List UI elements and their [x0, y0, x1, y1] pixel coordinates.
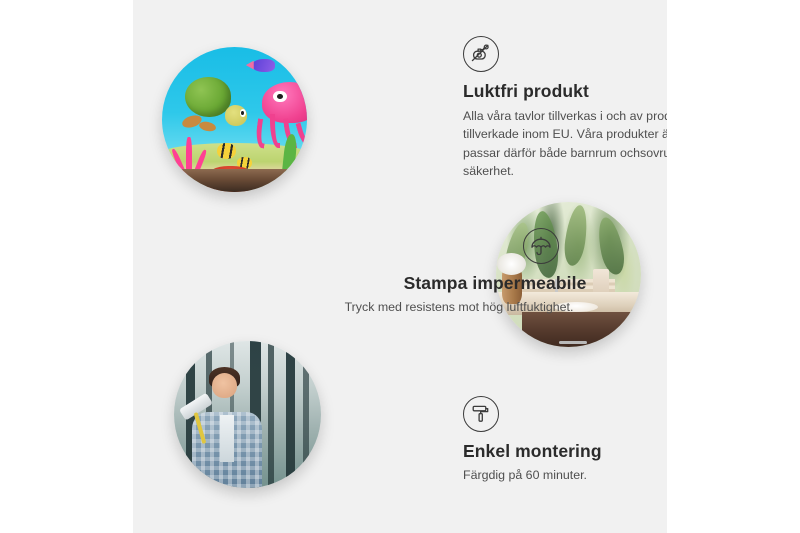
- turtle-shell: [185, 77, 232, 117]
- wooden-vanity-cabinet: [522, 312, 641, 347]
- feature-description: Färgdig på 60 minuter.: [463, 466, 667, 484]
- tree-trunk: [268, 341, 274, 488]
- drawer-handle: [559, 341, 588, 344]
- blue-fish: [252, 59, 275, 72]
- octopus-tentacle: [254, 119, 268, 149]
- woman-face: [212, 373, 237, 398]
- no-fragrance-icon: [463, 36, 499, 72]
- paint-roller-icon: [463, 396, 499, 432]
- feature-description: Alla våra tavlor tillverkas i och av pro…: [463, 107, 667, 180]
- sea-turtle: [179, 76, 246, 128]
- turtle-head: [225, 105, 248, 126]
- feature-title: Stampa impermeabile: [323, 273, 595, 294]
- screenshot-stage: Luktfri produkt Alla våra tavlor tillver…: [0, 0, 800, 533]
- octopus-tentacle: [270, 114, 280, 149]
- cabinet-handle: [613, 339, 616, 345]
- feature-title: Luktfri produkt: [463, 81, 667, 102]
- yellow-fish: [217, 143, 236, 159]
- underwater-cartoon-mural: [162, 47, 307, 192]
- turtle-eye: [240, 109, 246, 118]
- octopus-tentacle: [296, 121, 307, 149]
- octopus-eye: [273, 91, 286, 103]
- octopus: [255, 82, 307, 149]
- feature-title: Enkel montering: [463, 441, 667, 462]
- tree-trunk: [303, 341, 309, 488]
- sea-bottom-strip: [162, 169, 307, 192]
- woman-with-paint-roller-forest: [174, 341, 321, 488]
- woman-plaid-shirt: [192, 412, 263, 488]
- feature-block-waterproof: Stampa impermeabile Tryck med resistens …: [323, 228, 595, 316]
- shirt-placket: [220, 415, 234, 462]
- feature-block-easy-mounting: Enkel montering Färgdig på 60 minuter.: [463, 396, 667, 484]
- feature-image-easy-mounting: [174, 341, 321, 488]
- feature-block-odourless: Luktfri produkt Alla våra tavlor tillver…: [463, 36, 667, 180]
- feature-description: Tryck med resistens mot hög luftfuktighe…: [323, 298, 595, 316]
- tree-trunk: [286, 341, 295, 488]
- content-panel: Luktfri produkt Alla våra tavlor tillver…: [133, 0, 667, 533]
- umbrella-icon: [523, 228, 559, 264]
- feature-image-odourless: [162, 47, 307, 192]
